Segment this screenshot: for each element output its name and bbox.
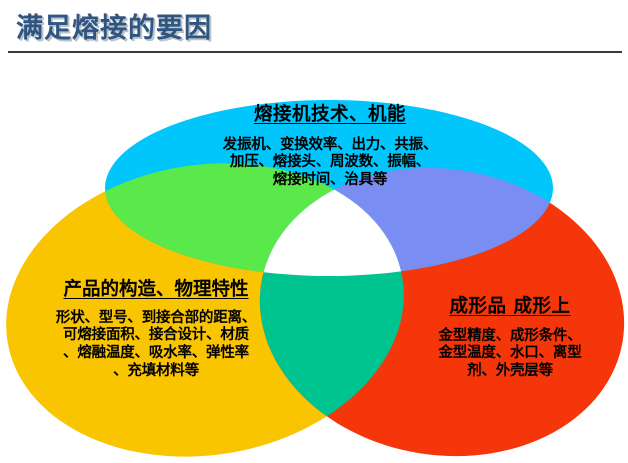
venn-heading-machine: 熔接机技术、机能	[152, 104, 508, 127]
venn-body-line: 金型温度、水口、离型	[398, 345, 622, 363]
venn-body-line: 发振机、变换效率、出力、共振、	[152, 137, 508, 155]
venn-label-product: 产品的构造、物理特性 形状、型号、到接合部的距离、 可熔接面积、接合设计、材质 …	[6, 279, 306, 380]
venn-body-line: 形状、型号、到接合部的距离、	[6, 310, 306, 328]
venn-body-line: 剂、外壳层等	[398, 363, 622, 381]
venn-body-line: 可熔接面积、接合设计、材质	[6, 327, 306, 345]
venn-body-line: 、熔融温度、吸水率、弹性率	[6, 345, 306, 363]
venn-label-molding: 成形品 成形上 金型精度、成形条件、 金型温度、水口、离型 剂、外壳层等	[398, 296, 622, 381]
venn-body-line: 加压、熔接头、周波数、振幅、	[152, 154, 508, 172]
venn-body-line: 熔接时间、治具等	[152, 172, 508, 190]
page-header: 满足熔接的要因	[0, 0, 628, 58]
page-title: 满足熔接的要因	[16, 6, 212, 45]
venn-heading-molding: 成形品 成形上	[398, 296, 622, 319]
title-divider	[8, 51, 622, 53]
venn-heading-product: 产品的构造、物理特性	[6, 279, 306, 302]
venn-body-machine: 发振机、变换效率、出力、共振、 加压、熔接头、周波数、振幅、 熔接时间、治具等	[152, 137, 508, 190]
venn-body-product: 形状、型号、到接合部的距离、 可熔接面积、接合设计、材质 、熔融温度、吸水率、弹…	[6, 310, 306, 381]
venn-body-line: 金型精度、成形条件、	[398, 328, 622, 346]
venn-body-molding: 金型精度、成形条件、 金型温度、水口、离型 剂、外壳层等	[398, 328, 622, 381]
venn-label-machine: 熔接机技术、机能 发振机、变换效率、出力、共振、 加压、熔接头、周波数、振幅、 …	[152, 104, 508, 190]
venn-body-line: 、充填材料等	[6, 363, 306, 381]
venn-diagram: 熔接机技术、机能 发振机、变换效率、出力、共振、 加压、熔接头、周波数、振幅、 …	[0, 58, 628, 463]
